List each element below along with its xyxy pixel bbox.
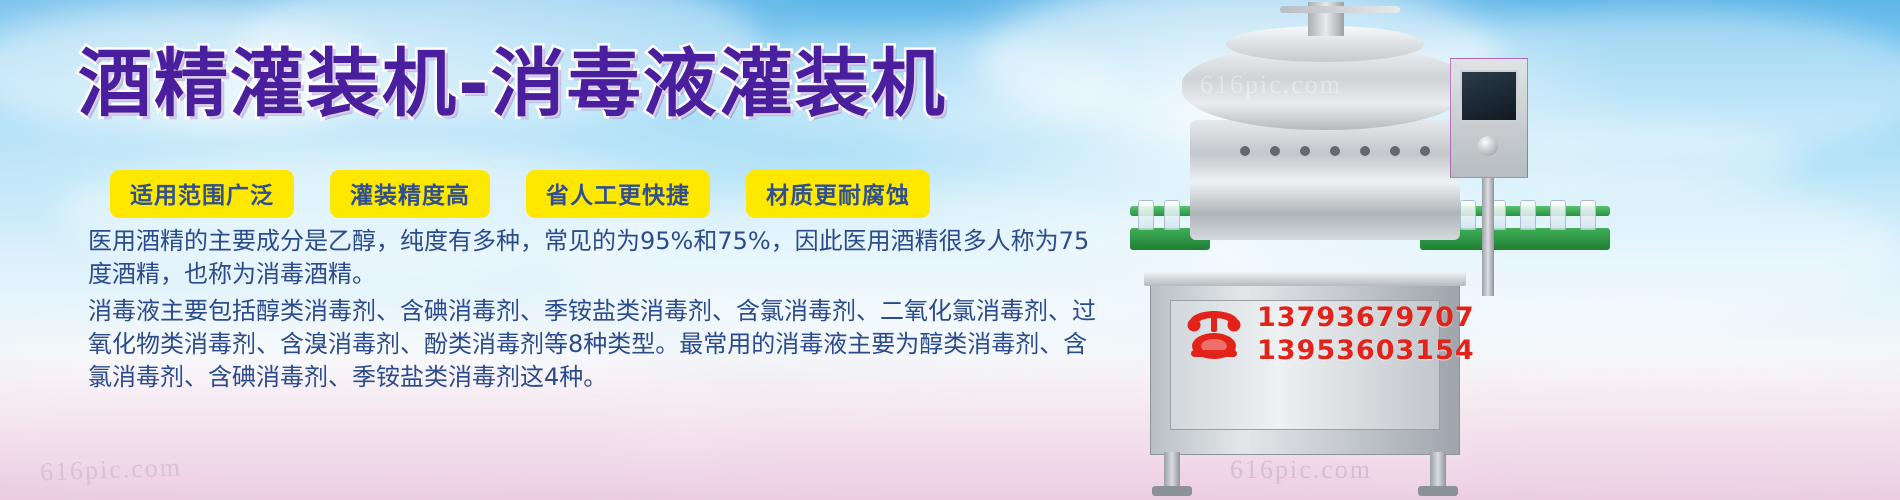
machine-foot	[1418, 486, 1458, 496]
nozzle-marker	[1270, 146, 1280, 156]
description-paragraph: 消毒液主要包括醇类消毒剂、含碘消毒剂、季铵盐类消毒剂、含氯消毒剂、二氧化氯消毒剂…	[88, 295, 1098, 394]
description-text: 医用酒精的主要成分是乙醇，纯度有多种，常见的为95%和75%，因此医用酒精很多人…	[88, 225, 1098, 394]
telephone-icon	[1185, 308, 1243, 360]
bottle	[1164, 200, 1180, 230]
machine-base-top	[1144, 272, 1466, 286]
feature-badge: 省人工更快捷	[526, 170, 710, 218]
nozzle-marker	[1420, 146, 1430, 156]
bottle	[1550, 200, 1566, 230]
nozzle-marker	[1330, 146, 1340, 156]
page-title: 酒精灌装机-消毒液灌装机	[78, 47, 947, 121]
bottle	[1460, 200, 1476, 230]
control-panel-knob	[1478, 136, 1498, 156]
phone-number-primary: 13793679707	[1257, 302, 1475, 333]
phone-number-secondary: 13953603154	[1257, 335, 1475, 366]
promo-banner: 酒精灌装机-消毒液灌装机 适用范围广泛 灌装精度高 省人工更快捷 材质更耐腐蚀 …	[0, 0, 1900, 500]
nozzle-marker	[1240, 146, 1250, 156]
feature-badge: 适用范围广泛	[110, 170, 294, 218]
control-panel-screen	[1460, 70, 1518, 122]
filling-machine-image	[1130, 0, 1900, 500]
feature-badge-list: 适用范围广泛 灌装精度高 省人工更快捷 材质更耐腐蚀	[110, 170, 930, 218]
description-paragraph: 医用酒精的主要成分是乙醇，纯度有多种，常见的为95%和75%，因此医用酒精很多人…	[88, 225, 1098, 291]
bottle	[1580, 200, 1596, 230]
nozzle-marker	[1390, 146, 1400, 156]
turret-arm	[1280, 6, 1400, 13]
contact-block: 13793679707 13953603154	[1185, 302, 1475, 366]
bottle	[1138, 200, 1154, 230]
feature-badge: 灌装精度高	[330, 170, 490, 218]
bottle	[1520, 200, 1536, 230]
rotary-turret-body	[1190, 120, 1460, 240]
phone-number-list: 13793679707 13953603154	[1257, 302, 1475, 366]
feature-badge: 材质更耐腐蚀	[746, 170, 930, 218]
watermark: 616pic.com	[40, 453, 183, 488]
nozzle-marker	[1360, 146, 1370, 156]
control-panel-pole	[1482, 176, 1494, 296]
nozzle-marker	[1300, 146, 1310, 156]
machine-foot	[1152, 486, 1192, 496]
